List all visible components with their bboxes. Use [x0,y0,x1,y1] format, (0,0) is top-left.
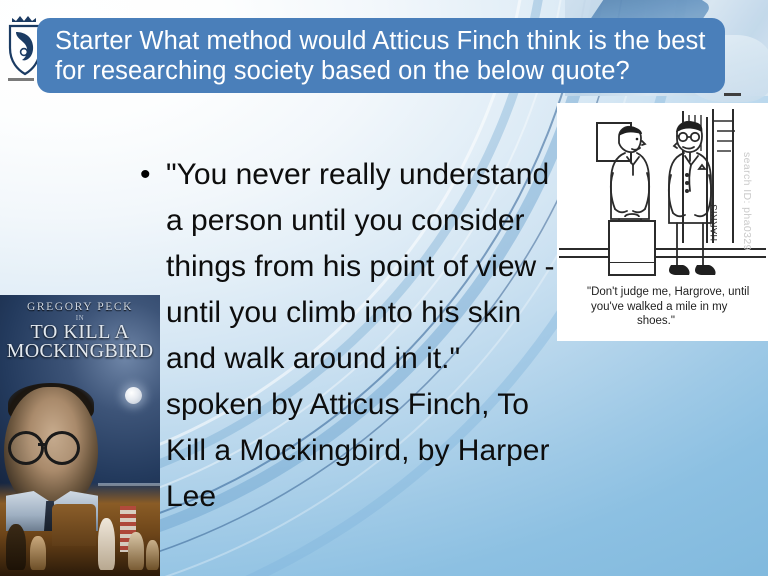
slide-title-box: Starter What method would Atticus Finch … [37,18,725,93]
poster-courtroom-figure [98,518,115,570]
cartoon-illustration: HARRIS "Don't judge me, Hargrove, until … [557,103,768,341]
poster-glasses-right-lens [44,431,80,465]
poster-judge-bench [52,504,96,546]
decorative-rule-a [724,93,741,96]
poster-glasses-bridge [38,443,46,446]
bullet-marker: • [140,152,166,198]
poster-courtroom-figure [6,524,26,570]
poster-courtroom-figure [128,532,144,570]
cartoon-caption-line-1: "Don't judge me, Hargrove, until [587,286,749,298]
poster-actor-credit: GREGORY PECK [0,301,160,313]
cartoon-signature: HARRIS [709,204,719,241]
poster-glasses-left-lens [8,431,44,465]
poster-courtroom-scene [0,490,160,576]
slide-body-content: • "You never really understand a person … [140,152,560,520]
page-title: Starter What method would Atticus Finch … [55,26,707,86]
poster-title-line-2: MOCKINGBIRD [0,340,160,363]
poster-courtroom-figure [30,536,46,570]
to-kill-a-mockingbird-poster-image: GREGORY PECK IN TO KILL A MOCKINGBIRD [0,295,160,576]
poster-moon [125,387,142,404]
cartoon-caption-line-2: you've walked a mile in my [591,301,728,313]
bullet-list-item: • "You never really understand a person … [140,152,560,520]
presentation-slide: Starter What method would Atticus Finch … [0,0,768,576]
quote-text: "You never really understand a person un… [166,152,560,520]
poster-courtroom-figure [146,540,159,570]
search-id-watermark: search ID: pha0329 [741,152,753,251]
cartoon-caption-line-3: shoes." [637,315,675,327]
